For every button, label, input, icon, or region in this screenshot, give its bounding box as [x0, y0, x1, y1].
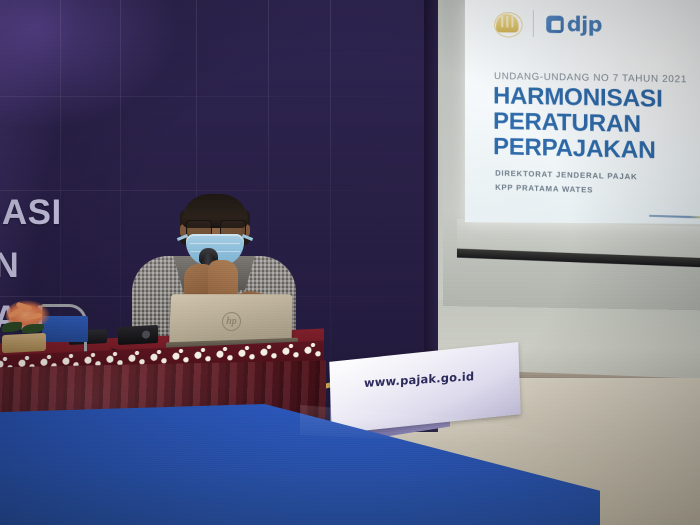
kemenkeu-crown-icon	[494, 10, 521, 37]
projection-screen: djp UNDANG-UNDANG NO 7 TAHUN 2021 HARMON…	[465, 0, 700, 224]
slide-accent-rule	[649, 215, 700, 219]
logo-divider	[533, 10, 534, 37]
flower-vase	[2, 333, 46, 353]
djp-wordmark: djp	[567, 14, 602, 35]
slide-title: HARMONISASI PERATURAN PERPAJAKAN	[493, 83, 700, 164]
djp-square-icon	[546, 15, 564, 33]
flower-arrangement	[6, 300, 50, 330]
audio-device	[118, 325, 158, 345]
backdrop-text-line-2: RAN	[0, 239, 62, 292]
hp-logo-icon: hp	[222, 312, 242, 331]
slide-logo-row: djp	[494, 10, 602, 38]
photo-scene: djp UNDANG-UNDANG NO 7 TAHUN 2021 HARMON…	[0, 0, 700, 525]
flag-url-text: www.pajak.go.id	[364, 369, 474, 390]
chair-seat	[42, 316, 88, 342]
presentation-slide: djp UNDANG-UNDANG NO 7 TAHUN 2021 HARMON…	[465, 0, 700, 224]
backdrop-text-line-1: NISASI	[0, 186, 62, 239]
projection-screen-frame: djp UNDANG-UNDANG NO 7 TAHUN 2021 HARMON…	[443, 0, 700, 310]
slide-title-line-3: PERPAJAKAN	[493, 134, 700, 165]
djp-logo: djp	[546, 14, 602, 35]
backdrop-light-glare	[0, 0, 180, 130]
eyeglasses	[185, 220, 245, 235]
slide-organization: DIREKTORAT JENDERAL PAJAK KPP PRATAMA WA…	[495, 166, 637, 199]
